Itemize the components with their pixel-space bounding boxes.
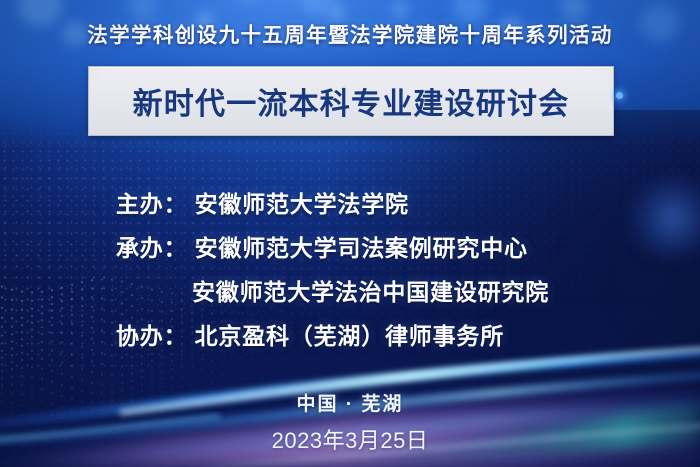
event-date: 2023年3月25日 bbox=[0, 423, 700, 455]
organizer-line-coorg-1: 承办： 安徽师范大学司法案例研究中心 bbox=[116, 226, 636, 270]
event-location: 中国 · 芜湖 bbox=[0, 389, 700, 416]
footer-block: 中国 · 芜湖 2023年3月25日 bbox=[0, 389, 700, 455]
organizer-line-host: 主办： 安徽师范大学法学院 bbox=[116, 182, 636, 226]
main-title: 新时代一流本科专业建设研讨会 bbox=[133, 79, 570, 123]
accent-dot-icon bbox=[616, 92, 623, 99]
anniversary-kicker-text: 法学学科创设九十五周年暨法学院建院十周年系列活动 bbox=[0, 18, 700, 48]
organizer-line-coorg-2: 安徽师范大学法治中国建设研究院 bbox=[116, 270, 636, 314]
title-panel: 新时代一流本科专业建设研讨会 bbox=[88, 66, 614, 136]
organizers-block: 主办： 安徽师范大学法学院 承办： 安徽师范大学司法案例研究中心 安徽师范大学法… bbox=[116, 182, 636, 358]
conference-backdrop-photo: 法学学科创设九十五周年暨法学院建院十周年系列活动 新时代一流本科专业建设研讨会 … bbox=[0, 0, 700, 467]
organizer-line-supporter: 协办： 北京盈科（芜湖）律师事务所 bbox=[116, 314, 636, 358]
